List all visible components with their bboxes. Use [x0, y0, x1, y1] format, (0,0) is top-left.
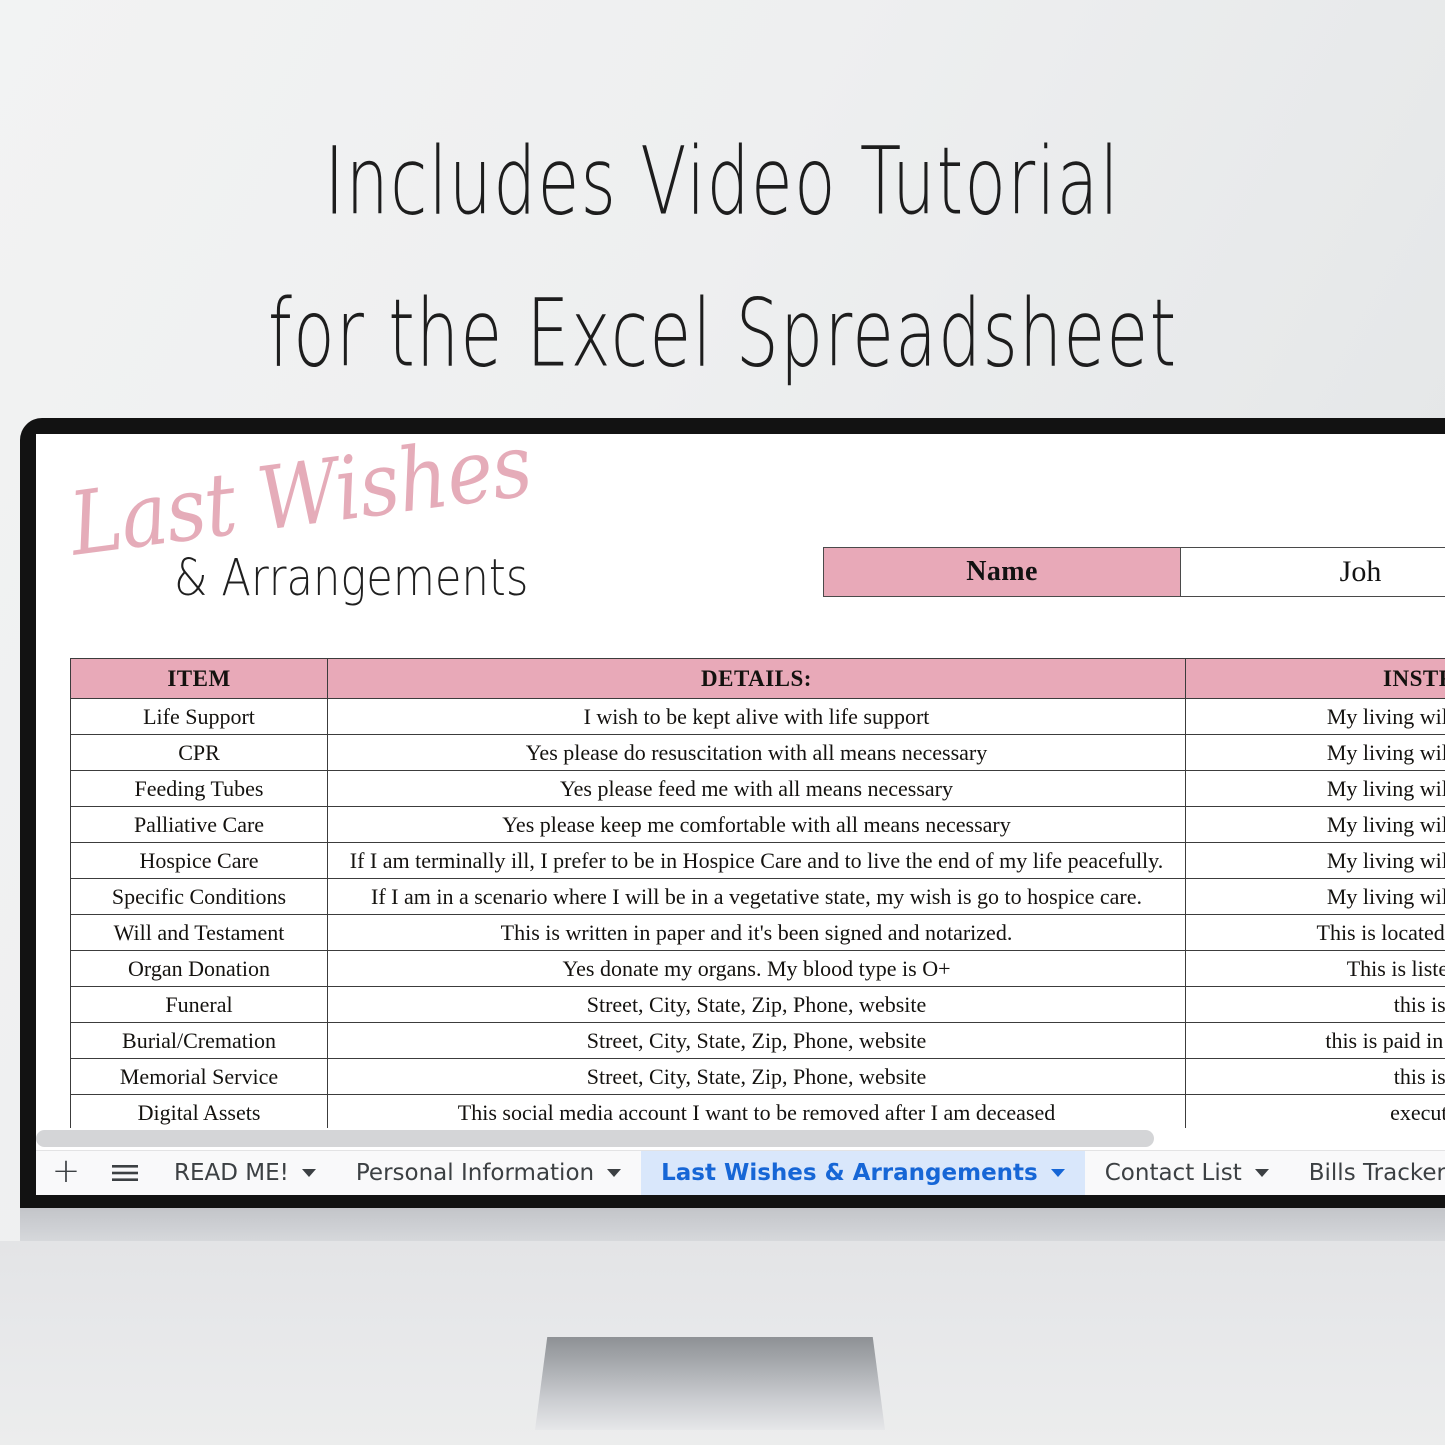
sheet-tab-label: Bills Tracker	[1309, 1160, 1445, 1186]
sheet-tab-label: Personal Information	[356, 1160, 594, 1186]
last-wishes-table: ITEM DETAILS: INSTRU Life Support I wish…	[70, 658, 1445, 1128]
cell-details[interactable]: If I am in a scenario where I will be in…	[328, 879, 1186, 915]
table-row[interactable]: Will and Testament This is written in pa…	[71, 915, 1445, 951]
cell-details[interactable]: This is written in paper and it's been s…	[328, 915, 1186, 951]
table-header-row: ITEM DETAILS: INSTRU	[71, 659, 1445, 699]
cell-details[interactable]: I wish to be kept alive with life suppor…	[328, 699, 1186, 735]
cell-instructions[interactable]: executor	[1186, 1095, 1445, 1129]
cell-instructions[interactable]: My living will is in tha	[1186, 771, 1445, 807]
sheet-tab-contact-list[interactable]: Contact List	[1085, 1151, 1289, 1196]
cell-details[interactable]: Yes please feed me with all means necess…	[328, 771, 1186, 807]
table-row[interactable]: Digital Assets This social media account…	[71, 1095, 1445, 1129]
horizontal-scrollbar[interactable]	[36, 1128, 1445, 1150]
horizontal-scrollbar-thumb[interactable]	[36, 1130, 1154, 1147]
name-label-cell[interactable]: Name	[823, 547, 1181, 597]
chevron-down-icon[interactable]	[302, 1169, 316, 1177]
monitor-stand-base	[535, 1337, 885, 1430]
table-body: Life Support I wish to be kept alive wit…	[71, 699, 1445, 1129]
table-row[interactable]: Organ Donation Yes donate my organs. My …	[71, 951, 1445, 987]
sheet-tab-read-me[interactable]: READ ME!	[154, 1151, 336, 1196]
name-value-cell[interactable]: Joh	[1181, 547, 1445, 597]
promo-line-1: Includes Video Tutorial	[325, 108, 1121, 256]
sheet-tab-bills-tracker[interactable]: Bills Tracker	[1289, 1151, 1445, 1196]
table-row[interactable]: Feeding Tubes Yes please feed me with al…	[71, 771, 1445, 807]
cell-instructions[interactable]: My living will is in tha	[1186, 807, 1445, 843]
chevron-down-icon[interactable]	[607, 1169, 621, 1177]
cell-item[interactable]: Specific Conditions	[71, 879, 328, 915]
column-header-item[interactable]: ITEM	[71, 659, 328, 699]
table-row[interactable]: Funeral Street, City, State, Zip, Phone,…	[71, 987, 1445, 1023]
sheet-tab-label: Contact List	[1105, 1160, 1242, 1186]
cell-details[interactable]: Street, City, State, Zip, Phone, website	[328, 1059, 1186, 1095]
table-row[interactable]: Palliative Care Yes please keep me comfo…	[71, 807, 1445, 843]
cell-instructions[interactable]: My living will is in tha	[1186, 879, 1445, 915]
cell-item[interactable]: Hospice Care	[71, 843, 328, 879]
cell-item[interactable]: Life Support	[71, 699, 328, 735]
table-row[interactable]: Life Support I wish to be kept alive wit…	[71, 699, 1445, 735]
monitor-screen: Last Wishes & Arrangements Name Joh ITEM…	[36, 434, 1445, 1195]
cell-instructions[interactable]: My living will is in tha	[1186, 843, 1445, 879]
sheet-tab-label: READ ME!	[174, 1160, 289, 1186]
monitor-bezel: Last Wishes & Arrangements Name Joh ITEM…	[20, 418, 1445, 1208]
sheet-tab-bar: + READ ME! Personal Information Last Wis…	[36, 1150, 1445, 1195]
cell-instructions[interactable]: My living will is in tha	[1186, 699, 1445, 735]
chevron-down-icon[interactable]	[1051, 1169, 1065, 1177]
chevron-down-icon[interactable]	[1255, 1169, 1269, 1177]
table-row[interactable]: CPR Yes please do resuscitation with all…	[71, 735, 1445, 771]
promo-line-2: for the Excel Spreadsheet	[268, 260, 1178, 408]
cell-item[interactable]: Funeral	[71, 987, 328, 1023]
cell-item[interactable]: Digital Assets	[71, 1095, 328, 1129]
sheet-tab-last-wishes-arrangements[interactable]: Last Wishes & Arrangements	[641, 1151, 1085, 1196]
column-header-details[interactable]: DETAILS:	[328, 659, 1186, 699]
promo-headline: Includes Video Tutorial for the Excel Sp…	[0, 0, 1445, 418]
cell-details[interactable]: Yes please do resuscitation with all mea…	[328, 735, 1186, 771]
cell-instructions[interactable]: this is p	[1186, 1059, 1445, 1095]
cell-details[interactable]: Yes please keep me comfortable with all …	[328, 807, 1186, 843]
cell-item[interactable]: Memorial Service	[71, 1059, 328, 1095]
cell-details[interactable]: If I am terminally ill, I prefer to be i…	[328, 843, 1186, 879]
cell-instructions[interactable]: this is paid in full, bury	[1186, 1023, 1445, 1059]
cell-details[interactable]: This social media account I want to be r…	[328, 1095, 1186, 1129]
cell-instructions[interactable]: This is listed on th	[1186, 951, 1445, 987]
cell-details[interactable]: Street, City, State, Zip, Phone, website	[328, 1023, 1186, 1059]
cell-instructions[interactable]: this is p	[1186, 987, 1445, 1023]
cell-item[interactable]: Palliative Care	[71, 807, 328, 843]
add-sheet-button[interactable]: +	[36, 1151, 96, 1196]
cell-item[interactable]: Feeding Tubes	[71, 771, 328, 807]
spreadsheet-canvas: Last Wishes & Arrangements Name Joh ITEM…	[36, 434, 1445, 1128]
cell-instructions[interactable]: My living will is in tha	[1186, 735, 1445, 771]
brand-subtitle-text: & Arrangements	[174, 548, 528, 607]
cell-item[interactable]: Burial/Cremation	[71, 1023, 328, 1059]
table-row[interactable]: Memorial Service Street, City, State, Zi…	[71, 1059, 1445, 1095]
monitor-stand-neck	[20, 1208, 1445, 1241]
cell-instructions[interactable]: This is located in that sec	[1186, 915, 1445, 951]
table-row[interactable]: Burial/Cremation Street, City, State, Zi…	[71, 1023, 1445, 1059]
cell-item[interactable]: CPR	[71, 735, 328, 771]
sheet-tab-personal-information[interactable]: Personal Information	[336, 1151, 641, 1196]
table-row[interactable]: Specific Conditions If I am in a scenari…	[71, 879, 1445, 915]
cell-item[interactable]: Will and Testament	[71, 915, 328, 951]
all-sheets-menu-icon[interactable]	[96, 1151, 154, 1196]
name-row: Name Joh	[823, 547, 1445, 597]
table-row[interactable]: Hospice Care If I am terminally ill, I p…	[71, 843, 1445, 879]
cell-item[interactable]: Organ Donation	[71, 951, 328, 987]
cell-details[interactable]: Yes donate my organs. My blood type is O…	[328, 951, 1186, 987]
sheet-tab-label: Last Wishes & Arrangements	[661, 1160, 1038, 1186]
column-header-instructions[interactable]: INSTRU	[1186, 659, 1445, 699]
cell-details[interactable]: Street, City, State, Zip, Phone, website	[328, 987, 1186, 1023]
brand-logo: Last Wishes & Arrangements	[64, 476, 534, 606]
